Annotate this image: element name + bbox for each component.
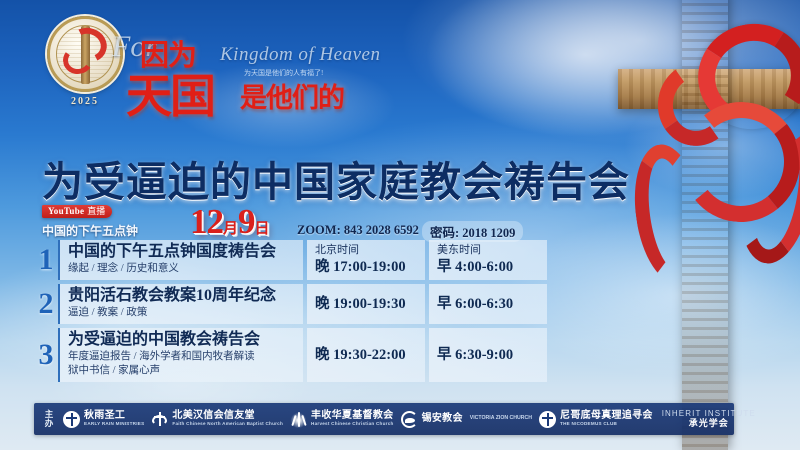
session-info: 贵阳活石教会教案10周年纪念 逼迫 / 教案 / 政策 <box>58 284 303 324</box>
sponsor-inherit-institute[interactable]: INHERIT INSTITUTE 承光学会 <box>662 409 756 429</box>
us-east-time-value: 早 6:30-9:00 <box>437 346 539 365</box>
table-row: 1 中国的下午五点钟国度祷告会 缘起 / 理念 / 历史和意义 北京时间 晚 1… <box>34 240 544 280</box>
table-row: 3 为受逼迫的中国教会祷告会 年度逼迫报告 / 海外学者和国内牧者解读 狱中书信… <box>34 328 544 382</box>
session-subtitle: 逼迫 / 教案 / 政策 <box>68 306 297 320</box>
broadcast-info-bar: YouTube 直播 中国的下午五点钟 12月9日 ZOOM: 843 2028… <box>42 205 562 239</box>
session-title: 贵阳活石教会教案10周年纪念 <box>68 287 297 306</box>
sponsor-name-en: Faith Chinese North American Baptist Chu… <box>172 422 283 427</box>
us-east-time-cell: 早 6:30-9:00 <box>429 328 547 382</box>
youtube-live-badge[interactable]: YouTube 直播 <box>42 205 112 218</box>
schedule-table: 1 中国的下午五点钟国度祷告会 缘起 / 理念 / 历史和意义 北京时间 晚 1… <box>34 240 544 386</box>
session-title: 中国的下午五点钟国度祷告会 <box>68 243 297 262</box>
organizer-label: 主 办 <box>42 410 56 428</box>
us-east-time-cell: 美东时间 早 4:00-6:00 <box>429 240 547 280</box>
header: 2025 For Kingdom of Heaven 为天国是他们的人有福了! … <box>0 0 600 126</box>
broadcast-time-note: 中国的下午五点钟 <box>42 222 138 239</box>
sponsor-victoria-zion[interactable]: 锡安教会 VICTORIA ZION CHURCH <box>401 411 532 428</box>
row-number: 1 <box>34 240 58 280</box>
poster-background: 2025 For Kingdom of Heaven 为天国是他们的人有福了! … <box>0 0 800 450</box>
row-number: 3 <box>34 328 58 382</box>
calligraphy-tianguo: 天国 <box>126 60 214 126</box>
cross-circle-logo-icon <box>539 411 556 428</box>
beijing-time-value: 晚 19:30-22:00 <box>315 346 417 365</box>
session-subtitle: 年度逼迫报告 / 海外学者和国内牧者解读 <box>68 350 297 364</box>
table-row: 2 贵阳活石教会教案10周年纪念 逼迫 / 教案 / 政策 晚 19:00-19… <box>34 284 544 324</box>
row-number: 2 <box>34 284 58 324</box>
session-subtitle: 缘起 / 理念 / 历史和意义 <box>68 262 297 276</box>
beijing-time-value: 晚 19:00-19:30 <box>315 295 417 314</box>
sponsor-name-en: VICTORIA ZION CHURCH <box>470 416 532 422</box>
beijing-time-label: 北京时间 <box>315 243 417 258</box>
organizer-label-line2: 办 <box>42 419 56 428</box>
wheat-logo-icon <box>290 411 307 428</box>
event-date: 12月9日 <box>190 202 270 242</box>
sponsor-name-en: EARLY RAIN MINISTRIES <box>84 422 144 427</box>
date-day-number: 9 <box>238 202 255 241</box>
script-kingdom-of-heaven-text: Kingdom of Heaven <box>220 44 380 66</box>
youtube-label: YouTube <box>48 207 84 216</box>
sponsor-nicodemus-club[interactable]: 尼哥底母真理追寻会 THE NICODEMUS CLUB <box>539 411 653 428</box>
session-info: 中国的下午五点钟国度祷告会 缘起 / 理念 / 历史和意义 <box>58 240 303 280</box>
cross-circle-logo-icon <box>63 411 80 428</box>
us-east-time-value: 早 4:00-6:00 <box>437 258 539 277</box>
session-title: 为受逼迫的中国教会祷告会 <box>68 331 297 350</box>
session-subtitle-second-line: 狱中书信 / 家属心声 <box>68 364 297 378</box>
wooden-cross-with-ribbon <box>610 0 800 450</box>
beijing-time-cell: 晚 19:30-22:00 <box>307 328 425 382</box>
us-east-time-cell: 早 6:00-6:30 <box>429 284 547 324</box>
beijing-time-value: 晚 17:00-19:00 <box>315 258 417 277</box>
us-east-time-value: 早 6:00-6:30 <box>437 295 539 314</box>
session-info: 为受逼迫的中国教会祷告会 年度逼迫报告 / 海外学者和国内牧者解读 狱中书信 /… <box>58 328 303 382</box>
sponsor-footer-bar: 主 办 秋雨圣工 EARLY RAIN MINISTRIES 北美汉信会信友堂 <box>34 403 734 435</box>
dove-logo-icon <box>401 411 418 428</box>
sponsor-faith-chinese-baptist[interactable]: 北美汉信会信友堂 Faith Chinese North American Ba… <box>151 411 283 428</box>
live-label: 直播 <box>87 207 105 216</box>
sponsor-harvest-chinese[interactable]: 丰收华夏基督教会 Harvest Chinese Christian Churc… <box>290 411 394 428</box>
sponsor-name-en: THE NICODEMUS CLUB <box>560 422 653 427</box>
sponsor-name-cn: 锡安教会 <box>422 414 463 425</box>
sponsor-early-rain[interactable]: 秋雨圣工 EARLY RAIN MINISTRIES <box>63 411 144 428</box>
fish-cross-logo-icon <box>151 411 168 428</box>
beijing-time-cell: 晚 19:00-19:30 <box>307 284 425 324</box>
zoom-meeting-id[interactable]: ZOOM: 843 2028 6592 <box>297 223 419 238</box>
date-month-unit: 月 <box>223 221 238 237</box>
inherit-institute-cn: 承光学会 <box>662 418 756 428</box>
us-east-time-label: 美东时间 <box>437 243 539 258</box>
beijing-time-cell: 北京时间 晚 17:00-19:00 <box>307 240 425 280</box>
date-month-number: 12 <box>190 202 223 241</box>
calligraphy-block: For Kingdom of Heaven 为天国是他们的人有福了! 因为 天国… <box>112 18 412 108</box>
date-day-unit: 日 <box>255 221 270 237</box>
page-title: 为受逼迫的中国家庭教会祷告会 <box>42 148 642 208</box>
sponsor-name-en: Harvest Chinese Christian Church <box>311 422 394 427</box>
zoom-password[interactable]: 密码: 2018 1209 <box>422 221 523 242</box>
calligraphy-shitamende: 是他们的 <box>240 76 344 115</box>
